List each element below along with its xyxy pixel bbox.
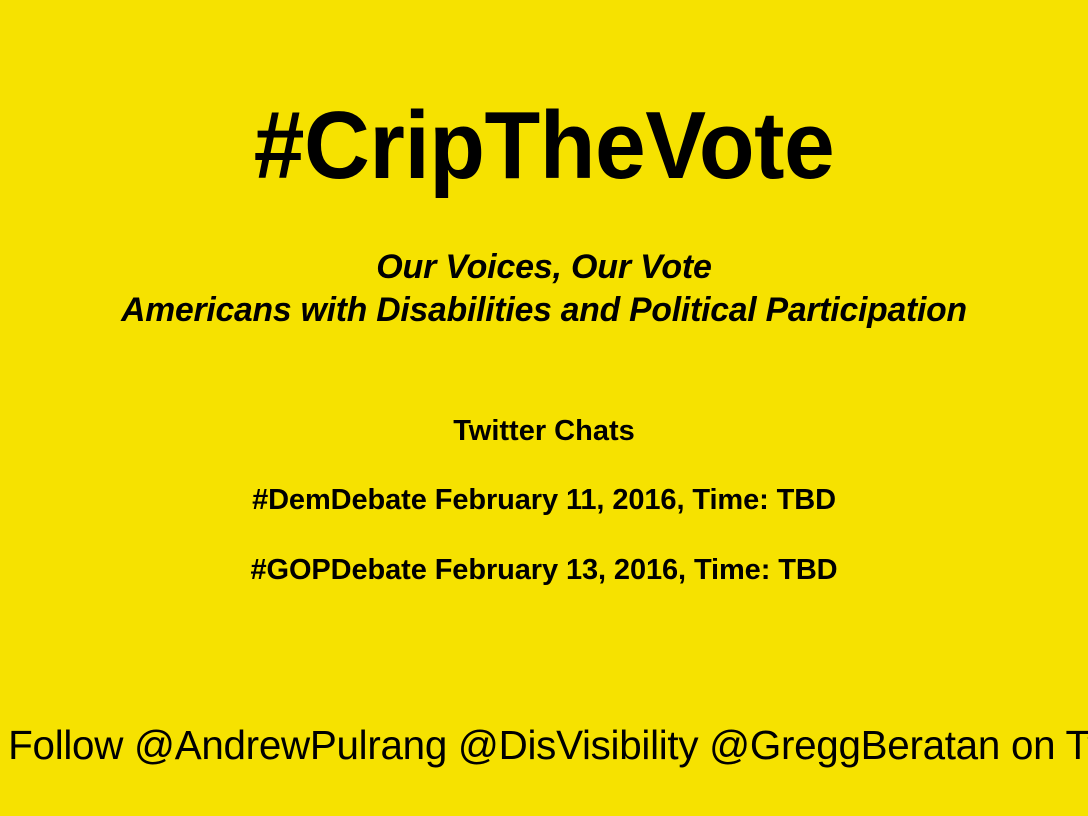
gop-debate-schedule: #GOPDebate February 13, 2016, Time: TBD [0,556,1088,585]
presentation-slide: #CripTheVote Our Voices, Our Vote Americ… [0,0,1088,816]
dem-debate-schedule: #DemDebate February 11, 2016, Time: TBD [0,486,1088,515]
slide-subtitle: Our Voices, Our Vote Americans with Disa… [0,246,1088,332]
slide-title: #CripTheVote [27,98,1061,194]
subtitle-line-1: Our Voices, Our Vote [0,246,1088,289]
subtitle-line-2: Americans with Disabilities and Politica… [5,289,1082,332]
twitter-chats-heading: Twitter Chats [0,417,1088,446]
follow-handles-line: Follow @AndrewPulrang @DisVisibility @Gr… [8,725,1080,766]
